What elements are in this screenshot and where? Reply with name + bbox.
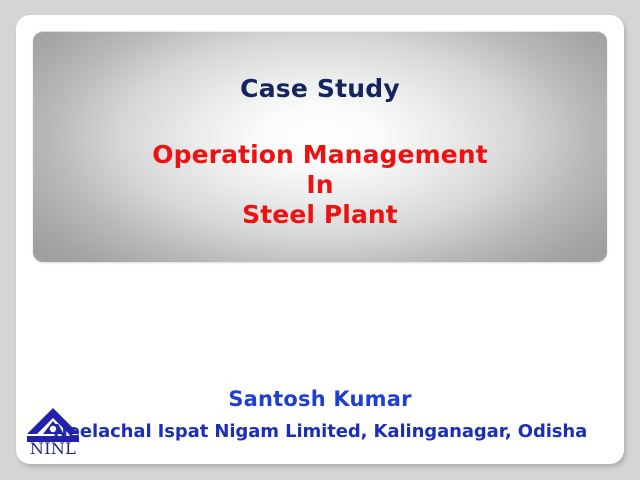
presenter-name: Santosh Kumar xyxy=(16,387,624,412)
presenter-affiliation: Neelachal Ispat Nigam Limited, Kalingana… xyxy=(16,421,624,442)
title-line-steel-plant: Steel Plant xyxy=(33,201,607,229)
ninl-triangle-logo-icon: NINL xyxy=(22,405,84,464)
title-line-in: In xyxy=(33,171,607,199)
title-panel: Case Study Operation Management In Steel… xyxy=(33,31,607,262)
title-line-operation-management: Operation Management xyxy=(33,141,607,169)
slide-page: Case Study Operation Management In Steel… xyxy=(16,15,624,464)
presenter-block: Santosh Kumar Neelachal Ispat Nigam Limi… xyxy=(16,387,624,442)
ninl-wordmark: NINL xyxy=(22,441,84,457)
case-study-heading: Case Study xyxy=(33,75,607,103)
